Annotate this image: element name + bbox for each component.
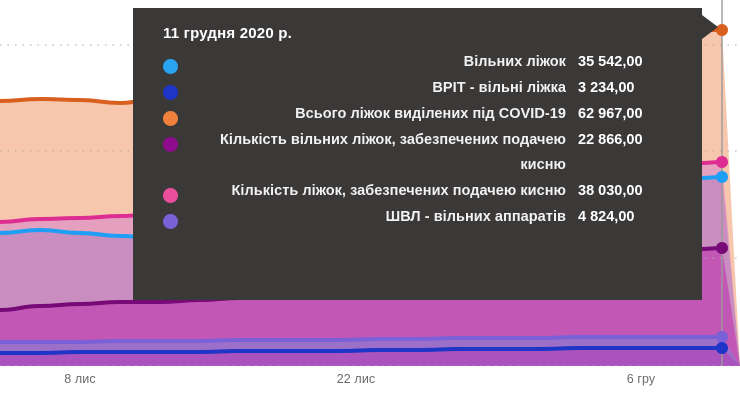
hover-point-marker <box>716 171 728 183</box>
tooltip-series-value: 3 234,00 <box>578 76 684 101</box>
tooltip-dot-cell <box>151 205 185 229</box>
chart-screenshot: 8 лис22 лис6 гру 11 грудня 2020 р. Вільн… <box>0 0 740 401</box>
tooltip-dot-cell <box>151 50 185 74</box>
tooltip-row-icu-free-beds: ВРІТ - вільні ліжка3 234,00 <box>151 76 684 101</box>
x-tick-label: 22 лис <box>337 372 376 386</box>
chart-tooltip: 11 грудня 2020 р. Вільних ліжок35 542,00… <box>133 8 702 300</box>
hover-point-marker <box>716 156 728 168</box>
tooltip-dot-cell <box>151 179 185 203</box>
tooltip-row-total-covid-beds: Всього ліжок виділених під COVID-1962 96… <box>151 102 684 127</box>
tooltip-row-free-oxygen-beds: Кількість вільних ліжок, забезпечених по… <box>151 128 684 178</box>
tooltip-series-label: Всього ліжок виділених під COVID-19 <box>185 102 578 127</box>
tooltip-series-label: Вільних ліжок <box>185 50 578 75</box>
hover-point-marker <box>716 331 728 343</box>
tooltip-row-ventilators-free: ШВЛ - вільних аппаратів4 824,00 <box>151 205 684 230</box>
series-color-dot-icon <box>163 137 178 152</box>
tooltip-series-label: Кількість ліжок, забезпечених подачею ки… <box>185 179 578 204</box>
tooltip-series-value: 62 967,00 <box>578 102 684 127</box>
tooltip-series-label: Кількість вільних ліжок, забезпечених по… <box>185 128 578 178</box>
tooltip-date-title: 11 грудня 2020 р. <box>163 25 684 42</box>
tooltip-series-value: 35 542,00 <box>578 50 684 75</box>
hover-point-marker <box>716 242 728 254</box>
series-color-dot-icon <box>163 85 178 100</box>
tooltip-series-list: Вільних ліжок35 542,00ВРІТ - вільні ліжк… <box>151 50 684 230</box>
series-color-dot-icon <box>163 111 178 126</box>
x-tick-label: 6 гру <box>627 372 656 386</box>
series-color-dot-icon <box>163 59 178 74</box>
tooltip-series-value: 38 030,00 <box>578 179 684 204</box>
x-axis: 8 лис22 лис6 гру <box>0 366 740 401</box>
series-color-dot-icon <box>163 214 178 229</box>
tooltip-dot-cell <box>151 76 185 100</box>
x-tick-label: 8 лис <box>64 372 95 386</box>
tooltip-row-oxygen-beds: Кількість ліжок, забезпечених подачею ки… <box>151 179 684 204</box>
hover-point-marker <box>716 342 728 354</box>
tooltip-dot-cell <box>151 128 185 152</box>
series-color-dot-icon <box>163 188 178 203</box>
tooltip-row-free-beds: Вільних ліжок35 542,00 <box>151 50 684 75</box>
tooltip-series-value: 22 866,00 <box>578 128 684 153</box>
tooltip-series-label: ВРІТ - вільні ліжка <box>185 76 578 101</box>
tooltip-pointer-arrow <box>702 15 718 39</box>
tooltip-series-value: 4 824,00 <box>578 205 684 230</box>
tooltip-series-label: ШВЛ - вільних аппаратів <box>185 205 578 230</box>
tooltip-dot-cell <box>151 102 185 126</box>
